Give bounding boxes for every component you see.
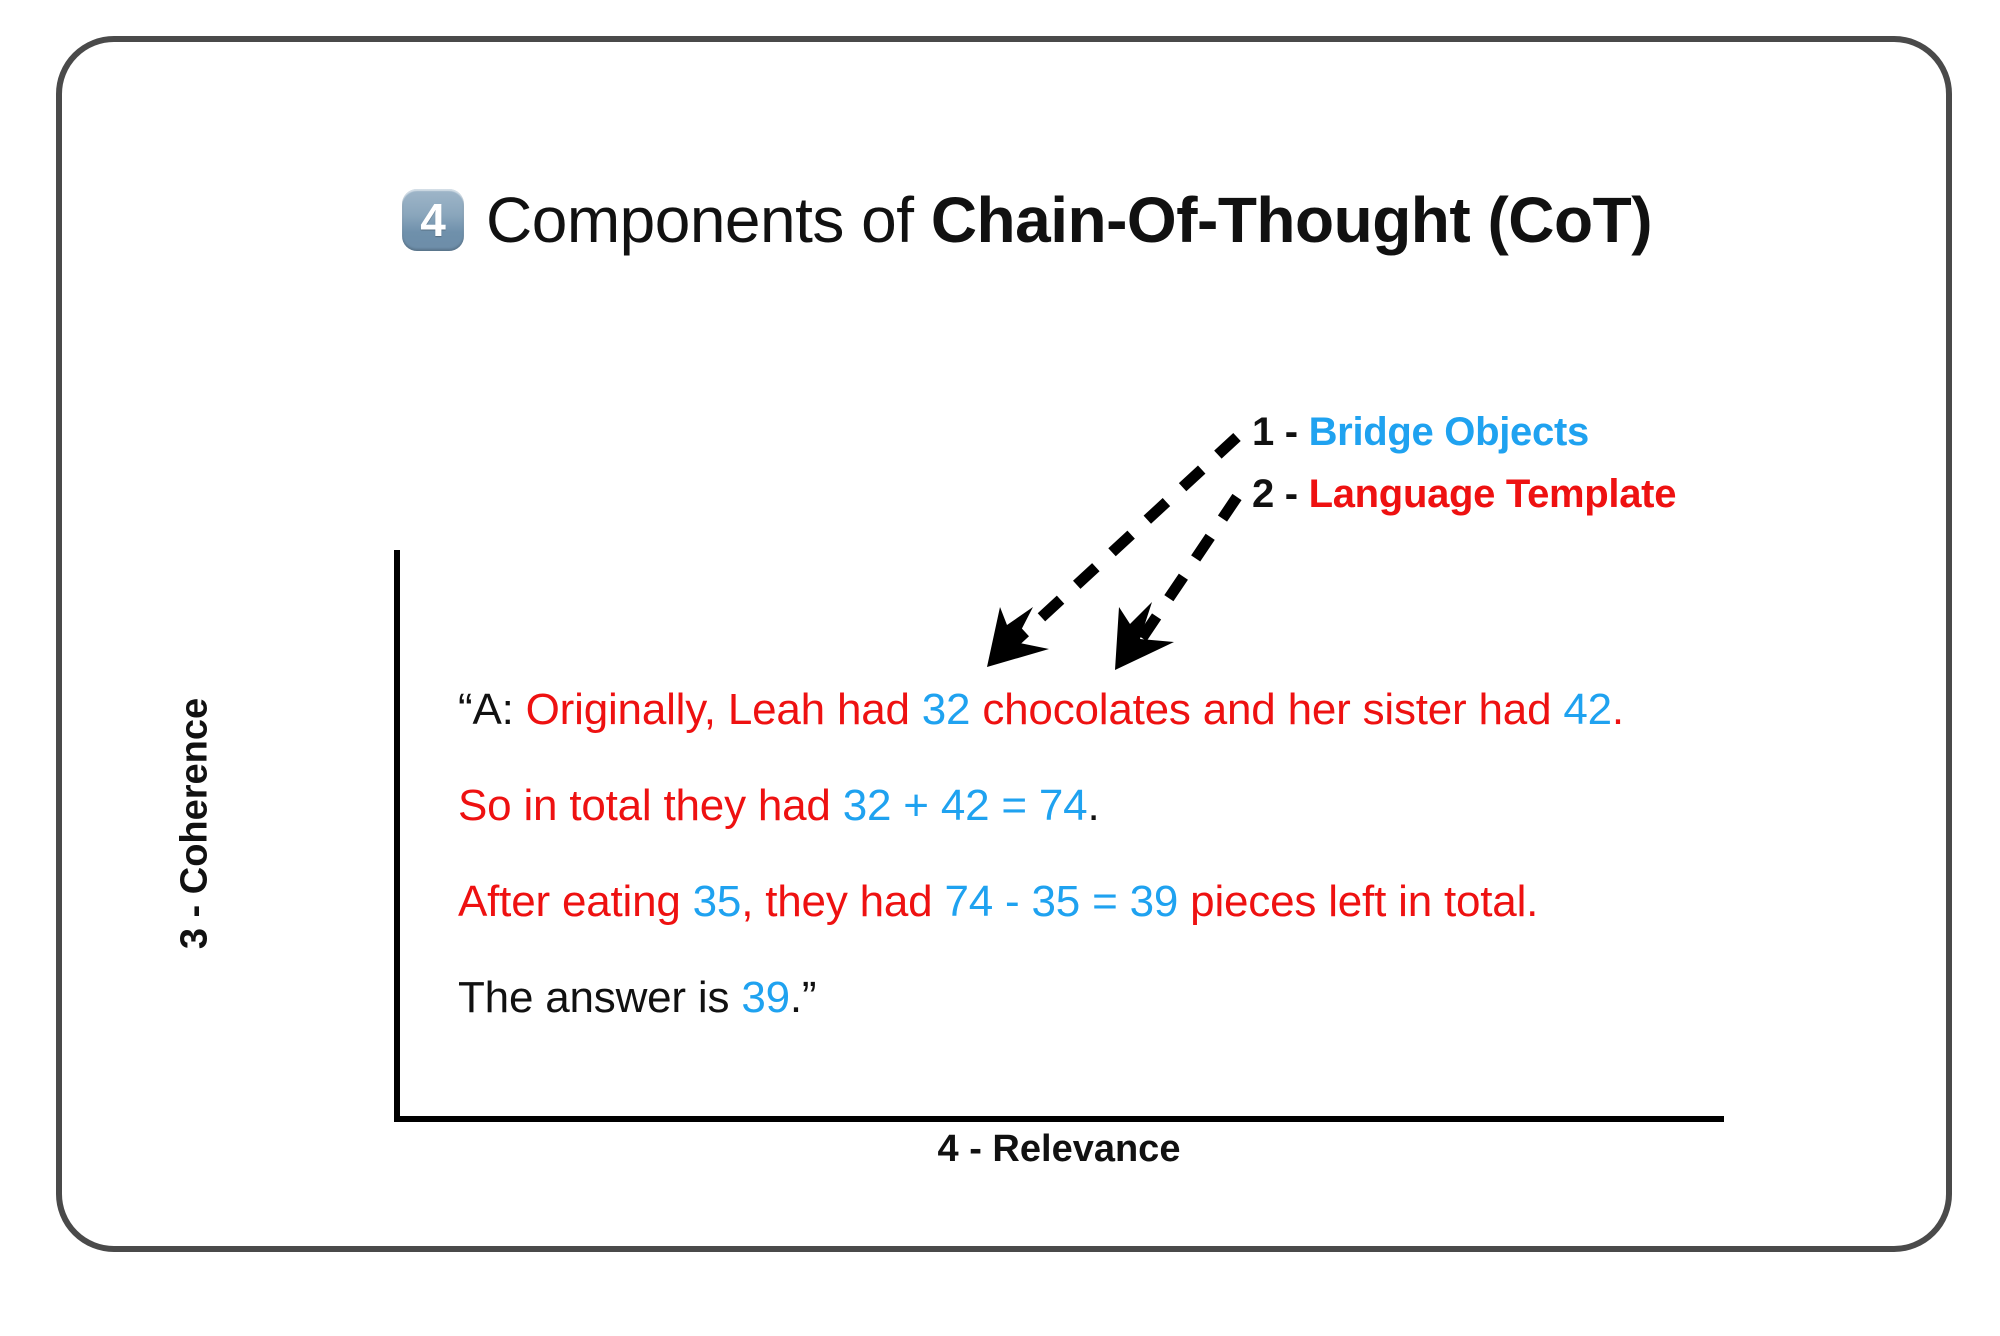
arrow-language-template-line — [1134, 497, 1237, 650]
step-number-badge: 4 — [402, 189, 464, 251]
cot-line-1-c: 32 — [922, 685, 971, 734]
cot-line-4-a: The answer is — [458, 973, 741, 1022]
cot-line-4: The answer is 39.” — [458, 950, 1878, 1046]
callout-1-label: Bridge Objects — [1309, 410, 1589, 454]
cot-line-1-b: Originally, Leah had — [526, 685, 922, 734]
callout-bridge-objects: 1 - Bridge Objects — [1252, 410, 1589, 455]
title-plain: Components of — [486, 184, 931, 256]
cot-line-1-a: “A: — [458, 685, 526, 734]
y-axis-label: 3 - Coherence — [174, 659, 217, 989]
title-text: Components of Chain-Of-Thought (CoT) — [486, 183, 1652, 257]
cot-line-3-d: 74 - 35 = 39 — [944, 877, 1178, 926]
cot-line-2-c: . — [1087, 781, 1099, 830]
cot-line-3: After eating 35, they had 74 - 35 = 39 p… — [458, 854, 1878, 950]
arrow-bridge-objects-line — [1006, 437, 1237, 650]
cot-line-1: “A: Originally, Leah had 32 chocolates a… — [458, 662, 1878, 758]
callout-2-label: Language Template — [1309, 472, 1677, 516]
cot-line-4-b: 39 — [741, 973, 790, 1022]
cot-line-3-b: 35 — [693, 877, 742, 926]
arrow-language-template-head — [1115, 602, 1174, 670]
title-bold: Chain-Of-Thought (CoT) — [931, 184, 1652, 256]
cot-line-1-f: . — [1612, 685, 1624, 734]
callout-language-template: 2 - Language Template — [1252, 472, 1676, 517]
cot-answer-block: “A: Originally, Leah had 32 chocolates a… — [458, 662, 1878, 1046]
cot-line-4-c: .” — [790, 973, 816, 1022]
x-axis-label: 4 - Relevance — [394, 1128, 1724, 1171]
cot-line-1-e: 42 — [1563, 685, 1612, 734]
slide-card: 4 Components of Chain-Of-Thought (CoT) 1… — [56, 36, 1952, 1252]
y-axis-line — [394, 550, 400, 1122]
cot-line-2: So in total they had 32 + 42 = 74. — [458, 758, 1878, 854]
arrow-bridge-objects-head — [987, 607, 1049, 667]
x-axis-line — [394, 1116, 1724, 1122]
cot-line-3-a: After eating — [458, 877, 693, 926]
cot-line-2-b: 32 + 42 = 74 — [843, 781, 1088, 830]
page-title: 4 Components of Chain-Of-Thought (CoT) — [402, 180, 1652, 260]
callout-1-number: 1 - — [1252, 410, 1309, 454]
cot-line-3-e: pieces left in total. — [1178, 877, 1538, 926]
slide-root: 4 Components of Chain-Of-Thought (CoT) 1… — [0, 0, 2000, 1294]
callout-2-number: 2 - — [1252, 472, 1309, 516]
cot-line-2-a: So in total they had — [458, 781, 843, 830]
cot-line-1-d: chocolates and her sister had — [970, 685, 1563, 734]
cot-line-3-c: , they had — [741, 877, 944, 926]
